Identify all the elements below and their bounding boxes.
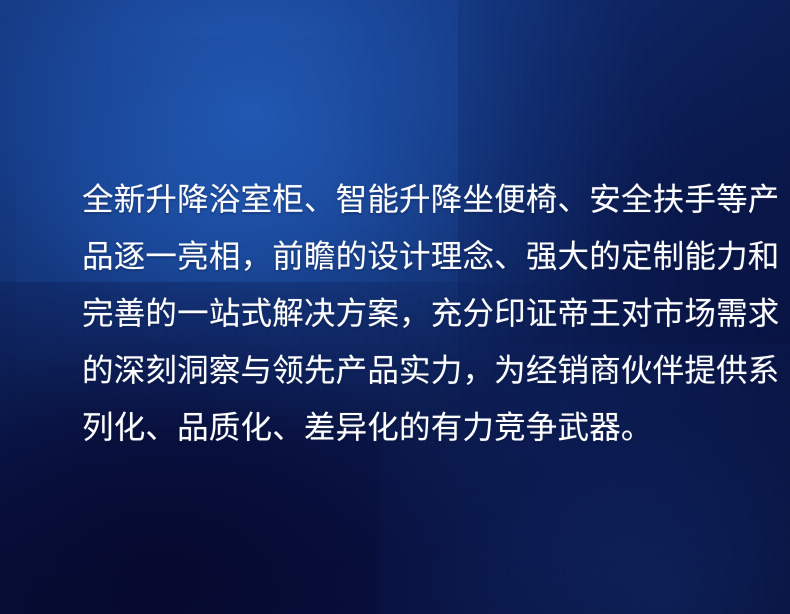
- body-copy-char: 念: [462, 228, 494, 285]
- body-copy-char: 商: [589, 342, 621, 399]
- body-copy-char: ，: [399, 285, 431, 342]
- body-copy-char: 洞: [177, 342, 209, 399]
- body-copy-char: 计: [399, 228, 431, 285]
- body-copy-char: 等: [716, 171, 748, 228]
- body-copy-char: 式: [241, 285, 273, 342]
- body-copy-char: 为: [494, 342, 526, 399]
- body-copy-char: 升: [145, 171, 177, 228]
- body-copy-char: 需: [716, 285, 748, 342]
- body-copy-char: 察: [209, 342, 241, 399]
- body-copy-char: 亮: [177, 228, 209, 285]
- body-copy-char: 、: [304, 171, 336, 228]
- body-copy-char: 品: [82, 228, 114, 285]
- body-copy-line-2: 品逐一亮相，前瞻的设计理念、强大的定制能力和: [82, 228, 710, 285]
- body-copy-char: 降: [177, 171, 209, 228]
- body-copy-char: 深: [114, 342, 146, 399]
- body-copy-char: 能: [367, 171, 399, 228]
- body-copy-line-5: 列化、品质化、差异化的有力竞争武器。: [82, 399, 710, 456]
- body-copy-char: 全: [621, 171, 653, 228]
- body-copy-char: 刻: [145, 342, 177, 399]
- body-copy-char: 站: [209, 285, 241, 342]
- body-copy-char: 瞻: [304, 228, 336, 285]
- body-copy-char: 善: [114, 285, 146, 342]
- body-copy-char: 方: [336, 285, 368, 342]
- body-copy-char: 坐: [462, 171, 494, 228]
- body-copy-char: 王: [589, 285, 621, 342]
- body-copy-char: 经: [526, 342, 558, 399]
- body-copy-char: 强: [526, 228, 558, 285]
- body-copy-char: 力: [716, 228, 748, 285]
- body-copy-char: 室: [241, 171, 273, 228]
- body-copy-char: 相: [209, 228, 241, 285]
- body-copy-char: 解: [272, 285, 304, 342]
- body-copy-char: 市: [653, 285, 685, 342]
- body-copy-char: 的: [82, 342, 114, 399]
- body-copy-char: 案: [367, 285, 399, 342]
- body-copy-char: 伴: [653, 342, 685, 399]
- body-copy-char: 实: [399, 342, 431, 399]
- body-copy-line-4: 的深刻洞察与领先产品实力，为经销商伙伴提供系: [82, 342, 710, 399]
- promo-text-card: 全新升降浴室柜、智能升降坐便椅、安全扶手等产 品逐一亮相，前瞻的设计理念、强大的…: [0, 0, 790, 614]
- body-copy-char: 与: [241, 342, 273, 399]
- body-copy-char: 的: [145, 285, 177, 342]
- body-copy-char: 产: [748, 171, 780, 228]
- body-copy-char: 先: [304, 342, 336, 399]
- body-copy-char: 柜: [272, 171, 304, 228]
- body-copy-block: 全新升降浴室柜、智能升降坐便椅、安全扶手等产 品逐一亮相，前瞻的设计理念、强大的…: [82, 171, 710, 456]
- body-copy-char: 伙: [621, 342, 653, 399]
- body-copy-char: ，: [462, 342, 494, 399]
- body-copy-char: 的: [589, 228, 621, 285]
- body-copy-line-1: 全新升降浴室柜、智能升降坐便椅、安全扶手等产: [82, 171, 710, 228]
- body-copy-char: 能: [684, 228, 716, 285]
- body-copy-char: 椅: [526, 171, 558, 228]
- body-copy-char: 、: [558, 171, 590, 228]
- body-copy-char: 智: [336, 171, 368, 228]
- body-copy-char: 前: [272, 228, 304, 285]
- body-copy-char: 定: [621, 228, 653, 285]
- body-copy-char: 逐: [114, 228, 146, 285]
- body-copy-char: 供: [716, 342, 748, 399]
- body-copy-char: 全: [82, 171, 114, 228]
- body-copy-char: 一: [177, 285, 209, 342]
- body-copy-char: 和: [748, 228, 780, 285]
- body-copy-char: 降: [431, 171, 463, 228]
- body-copy-char: 制: [653, 228, 685, 285]
- body-copy-char: 领: [272, 342, 304, 399]
- body-copy-char: 一: [145, 228, 177, 285]
- body-copy-char: 扶: [653, 171, 685, 228]
- body-copy-char: 场: [684, 285, 716, 342]
- body-copy-char: 决: [304, 285, 336, 342]
- body-copy-char: 充: [431, 285, 463, 342]
- body-copy-char: 力: [431, 342, 463, 399]
- body-copy-char: 完: [82, 285, 114, 342]
- body-copy-char: 提: [684, 342, 716, 399]
- body-copy-char: ，: [241, 228, 273, 285]
- body-copy-char: 浴: [209, 171, 241, 228]
- body-copy-char: 的: [336, 228, 368, 285]
- body-copy-line-3: 完善的一站式解决方案，充分印证帝王对市场需求: [82, 285, 710, 342]
- body-copy-char: 求: [748, 285, 780, 342]
- body-copy-char: 品: [367, 342, 399, 399]
- body-copy-char: 手: [684, 171, 716, 228]
- body-copy-char: 大: [558, 228, 590, 285]
- body-copy-char: 对: [621, 285, 653, 342]
- body-copy-char: 便: [494, 171, 526, 228]
- body-copy-char: 产: [336, 342, 368, 399]
- body-copy-char: 设: [367, 228, 399, 285]
- body-copy-char: 证: [526, 285, 558, 342]
- body-copy-char: 理: [431, 228, 463, 285]
- body-copy-char: 升: [399, 171, 431, 228]
- body-copy-char: 印: [494, 285, 526, 342]
- body-copy-char: 帝: [558, 285, 590, 342]
- body-copy-char: 、: [494, 228, 526, 285]
- body-copy-char: 安: [589, 171, 621, 228]
- body-copy-char: 系: [748, 342, 780, 399]
- body-copy-char: 销: [558, 342, 590, 399]
- body-copy-char: 新: [114, 171, 146, 228]
- body-copy-char: 分: [462, 285, 494, 342]
